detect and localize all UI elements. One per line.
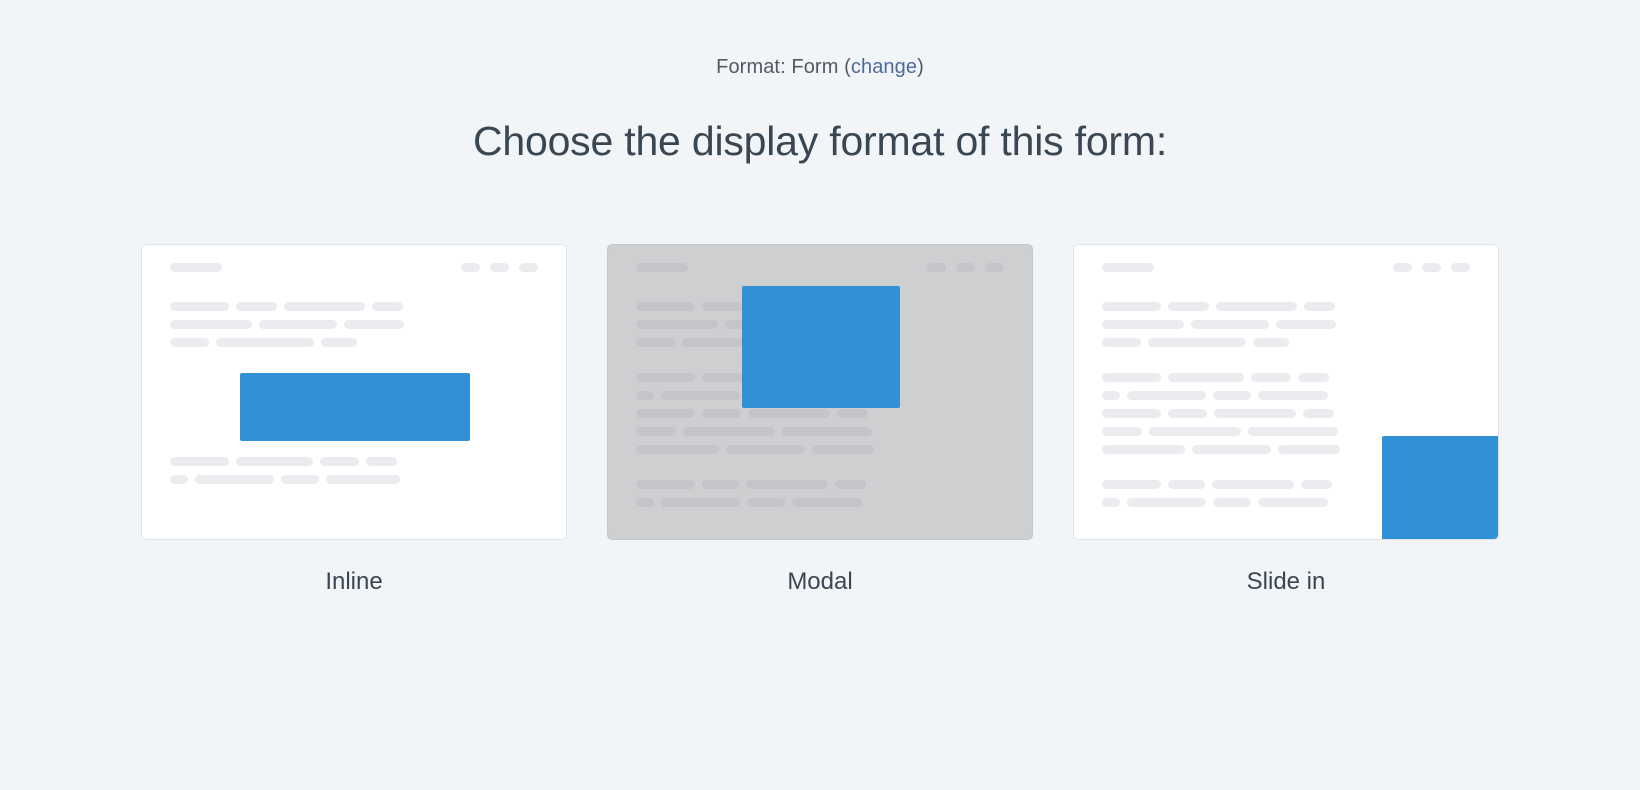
skeleton-text-row bbox=[170, 338, 538, 347]
format-suffix-text: ) bbox=[917, 56, 924, 78]
skeleton-header-row bbox=[1074, 263, 1498, 272]
format-option-modal[interactable]: Modal bbox=[607, 244, 1033, 596]
format-prefix-text: Format: Form ( bbox=[716, 56, 851, 78]
skeleton-logo-bar bbox=[1102, 263, 1154, 272]
skeleton-text-row bbox=[1102, 373, 1470, 382]
skeleton-text-row bbox=[636, 427, 1004, 436]
skeleton-text-row bbox=[170, 457, 538, 466]
slide-in-blue-panel bbox=[1382, 436, 1499, 540]
skeleton-text-row bbox=[636, 480, 1004, 489]
skeleton-text-block bbox=[142, 302, 566, 347]
skeleton-nav-group bbox=[927, 263, 1004, 272]
format-option-inline[interactable]: Inline bbox=[141, 244, 567, 596]
page-title: Choose the display format of this form: bbox=[0, 118, 1640, 165]
slide-in-skeleton bbox=[1074, 245, 1498, 539]
skeleton-nav-bar bbox=[1451, 263, 1470, 272]
change-format-link[interactable]: change bbox=[851, 56, 917, 78]
skeleton-nav-bar bbox=[490, 263, 509, 272]
skeleton-text-row bbox=[1102, 320, 1470, 329]
skeleton-nav-group bbox=[1393, 263, 1470, 272]
current-format-line: Format: Form (change) bbox=[0, 56, 1640, 79]
modal-blue-panel bbox=[742, 286, 900, 408]
skeleton-nav-bar bbox=[1393, 263, 1412, 272]
slide-in-preview-card[interactable] bbox=[1073, 244, 1499, 540]
skeleton-text-row bbox=[170, 302, 538, 311]
skeleton-nav-bar bbox=[519, 263, 538, 272]
skeleton-nav-bar bbox=[1422, 263, 1441, 272]
skeleton-header-row bbox=[142, 263, 566, 272]
skeleton-text-row bbox=[170, 320, 538, 329]
skeleton-logo-bar bbox=[636, 263, 688, 272]
format-options-list: Inline bbox=[0, 244, 1640, 596]
skeleton-header-row bbox=[608, 263, 1032, 272]
skeleton-nav-bar bbox=[927, 263, 946, 272]
format-chooser-page: Format: Form (change) Choose the display… bbox=[0, 0, 1640, 790]
skeleton-text-row bbox=[170, 475, 538, 484]
skeleton-text-row bbox=[1102, 409, 1470, 418]
skeleton-text-row bbox=[1102, 302, 1470, 311]
inline-blue-panel bbox=[240, 373, 470, 441]
slide-in-option-label: Slide in bbox=[1247, 568, 1326, 596]
format-option-slide-in[interactable]: Slide in bbox=[1073, 244, 1499, 596]
skeleton-nav-group bbox=[461, 263, 538, 272]
skeleton-text-row bbox=[636, 498, 1004, 507]
skeleton-text-row bbox=[1102, 391, 1470, 400]
modal-preview-card[interactable] bbox=[607, 244, 1033, 540]
skeleton-text-row bbox=[636, 409, 1004, 418]
inline-preview-card[interactable] bbox=[141, 244, 567, 540]
skeleton-nav-bar bbox=[956, 263, 975, 272]
skeleton-text-row bbox=[636, 445, 1004, 454]
skeleton-logo-bar bbox=[170, 263, 222, 272]
skeleton-text-row bbox=[1102, 338, 1470, 347]
inline-skeleton bbox=[142, 245, 566, 539]
skeleton-nav-bar bbox=[985, 263, 1004, 272]
skeleton-text-block bbox=[142, 457, 566, 484]
skeleton-text-row bbox=[1102, 427, 1470, 436]
modal-skeleton bbox=[608, 245, 1032, 539]
skeleton-text-block bbox=[1074, 302, 1498, 347]
inline-option-label: Inline bbox=[325, 568, 382, 596]
skeleton-text-block bbox=[608, 480, 1032, 507]
modal-option-label: Modal bbox=[787, 568, 852, 596]
skeleton-nav-bar bbox=[461, 263, 480, 272]
